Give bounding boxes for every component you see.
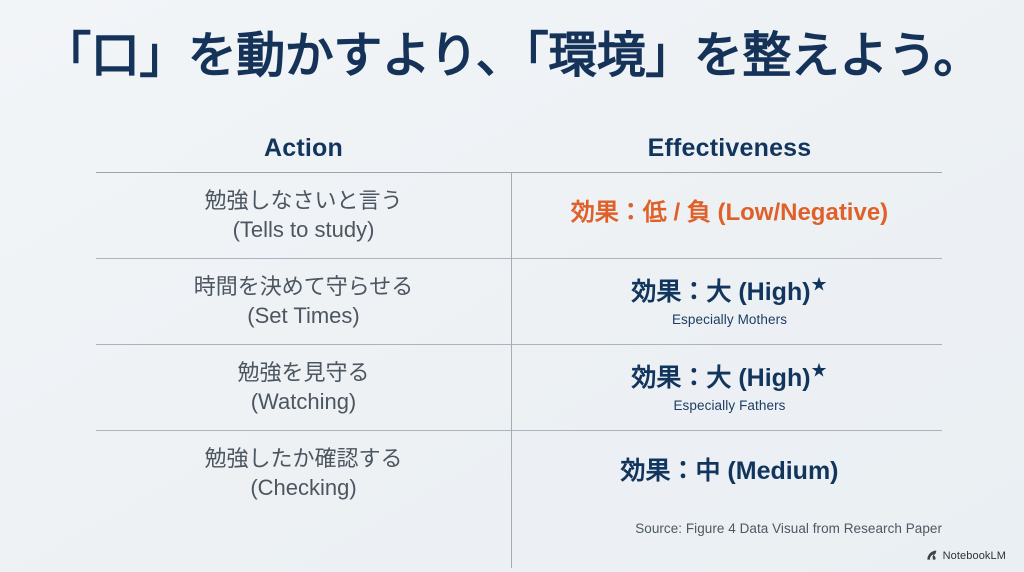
action-label-en: (Checking) [96, 474, 511, 503]
effectiveness-value: 効果：大 (High)★ [517, 277, 942, 307]
table-row: 勉強しなさいと言う (Tells to study) 効果：低 / 負 (Low… [96, 173, 942, 258]
cell-effectiveness: 効果：大 (High)★ Especially Fathers [511, 363, 942, 413]
cell-action: 勉強しなさいと言う (Tells to study) [96, 187, 511, 244]
column-separator [511, 172, 512, 568]
star-icon: ★ [811, 274, 828, 295]
cell-effectiveness: 効果：大 (High)★ Especially Mothers [511, 277, 942, 327]
notebooklm-label: NotebookLM [943, 550, 1006, 562]
effectiveness-text: 効果：中 (Medium) [620, 457, 838, 485]
action-label-jp: 勉強しなさいと言う [96, 187, 511, 216]
effectiveness-value: 効果：中 (Medium) [517, 456, 942, 486]
table-row: 時間を決めて守らせる (Set Times) 効果：大 (High)★ Espe… [96, 259, 942, 344]
column-header-effectiveness: Effectiveness [511, 134, 942, 163]
effectiveness-text: 効果：低 / 負 (Low/Negative) [571, 199, 888, 226]
column-header-action: Action [96, 134, 511, 163]
effectiveness-value: 効果：大 (High)★ [517, 363, 942, 393]
action-label-en: (Watching) [96, 388, 511, 417]
source-caption: Source: Figure 4 Data Visual from Resear… [635, 521, 942, 536]
cell-action: 時間を決めて守らせる (Set Times) [96, 273, 511, 330]
cell-effectiveness: 効果：中 (Medium) [511, 456, 942, 491]
effectiveness-note: Especially Fathers [517, 398, 942, 413]
effectiveness-table: Action Effectiveness 勉強しなさいと言う (Tells to… [96, 124, 942, 516]
effectiveness-value: 効果：低 / 負 (Low/Negative) [517, 199, 942, 228]
table-header-row: Action Effectiveness [96, 124, 942, 172]
action-label-jp: 勉強したか確認する [96, 445, 511, 474]
effectiveness-text: 効果：大 (High) [631, 278, 810, 306]
table-row: 勉強を見守る (Watching) 効果：大 (High)★ Especiall… [96, 345, 942, 430]
action-label-jp: 時間を決めて守らせる [96, 273, 511, 302]
notebooklm-logo-icon [926, 549, 939, 562]
slide: 「口」を動かすより、「環境」を整えよう。 Action Effectivenes… [0, 0, 1024, 572]
cell-action: 勉強したか確認する (Checking) [96, 445, 511, 502]
page-title: 「口」を動かすより、「環境」を整えよう。 [0, 28, 1024, 86]
effectiveness-text: 効果：大 (High) [631, 364, 810, 392]
star-icon: ★ [811, 360, 828, 381]
cell-action: 勉強を見守る (Watching) [96, 359, 511, 416]
action-label-en: (Tells to study) [96, 216, 511, 245]
effectiveness-note: Especially Mothers [517, 312, 942, 327]
cell-effectiveness: 効果：低 / 負 (Low/Negative) [511, 199, 942, 233]
action-label-jp: 勉強を見守る [96, 359, 511, 388]
action-label-en: (Set Times) [96, 302, 511, 331]
notebooklm-watermark: NotebookLM [926, 549, 1006, 562]
table-row: 勉強したか確認する (Checking) 効果：中 (Medium) [96, 431, 942, 516]
